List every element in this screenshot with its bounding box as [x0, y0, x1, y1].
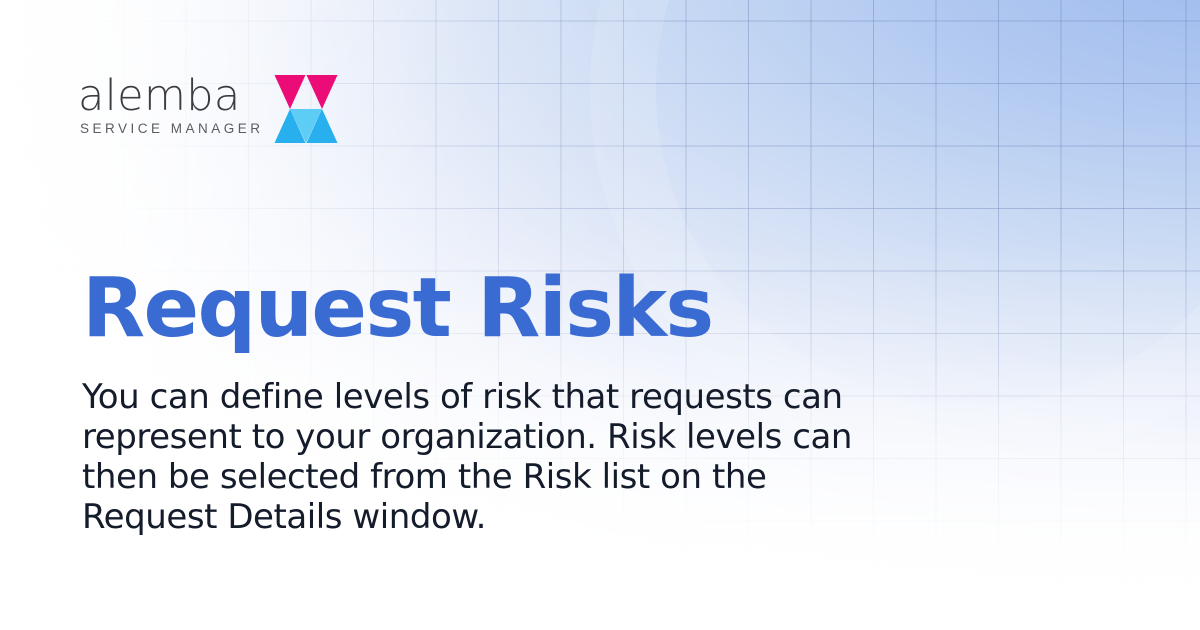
- page-description: You can define levels of risk that reque…: [82, 377, 882, 537]
- alemba-x-mark-icon: [274, 74, 338, 144]
- page-title: Request Risks: [82, 262, 922, 356]
- logo-tagline: SERVICE MANAGER: [80, 121, 264, 137]
- hero-content: Request Risks You can define levels of r…: [82, 262, 922, 537]
- alemba-service-manager-logo: alemba SERVICE MANAGER: [78, 72, 338, 144]
- logo-wordmark: alemba: [78, 74, 241, 118]
- promo-banner: alemba SERVICE MANAGER Request Risks You…: [0, 0, 1200, 630]
- logo-text-block: alemba SERVICE MANAGER: [78, 72, 264, 137]
